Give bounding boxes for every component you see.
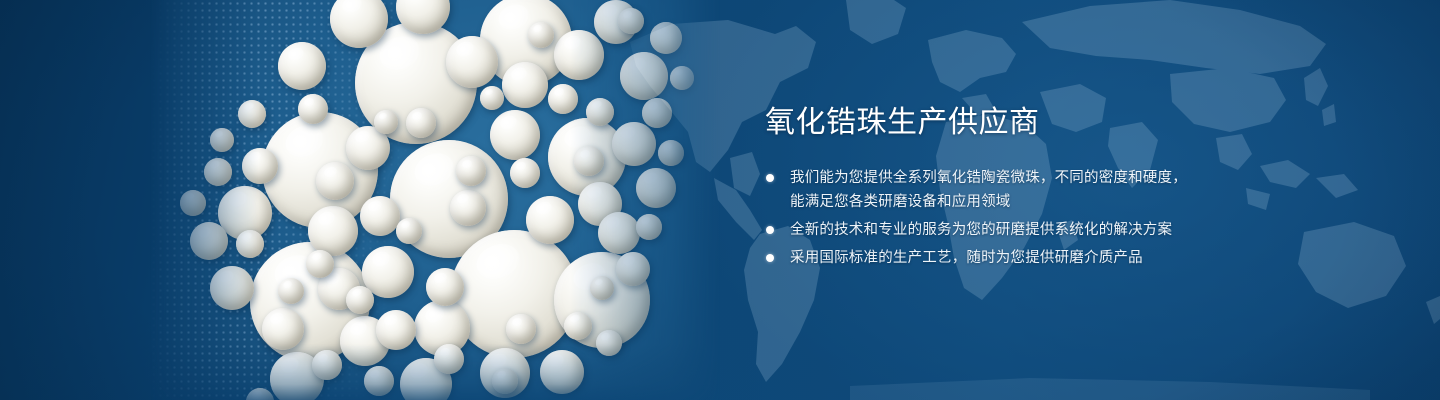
bead [590,276,614,300]
feature-list: 我们能为您提供全系列氧化锆陶瓷微珠，不同的密度和硬度， 能满足您各类研磨设备和应… [763,166,1323,270]
bead [492,368,518,394]
bead [548,84,578,114]
bead [446,36,498,88]
bead [554,30,604,80]
bead [306,250,334,278]
page-title: 氧化锆珠生产供应商 [765,104,1323,142]
bead [278,42,326,90]
bead [502,62,548,108]
bead [526,196,574,244]
list-item-line-1: 我们能为您提供全系列氧化锆陶瓷微珠，不同的密度和硬度， [790,166,1323,190]
bead [574,146,604,176]
list-item: 采用国际标准的生产工艺，随时为您提供研磨介质产品 [763,246,1323,270]
bead [190,222,228,260]
bead [426,268,464,306]
bead [658,140,684,166]
bead [434,344,464,374]
bead [360,196,400,236]
bead [262,308,304,350]
bead [236,230,264,258]
bead [480,86,504,110]
bead [510,158,540,188]
bead [616,252,650,286]
bead [636,168,676,208]
bead [308,206,358,256]
bead [238,100,266,128]
bead [586,98,614,126]
bead [204,158,232,186]
list-item-line-1: 全新的技术和专业的服务为您的研磨提供系统化的解决方案 [790,218,1323,242]
bead [528,22,554,48]
bead [670,66,694,90]
bead [278,278,304,304]
bead [346,286,374,314]
bead [618,8,644,34]
bead [642,98,672,128]
bead [612,122,656,166]
banner-text-panel: 氧化锆珠生产供应商 我们能为您提供全系列氧化锆陶瓷微珠，不同的密度和硬度， 能满… [763,104,1323,274]
bead [636,214,662,240]
bead [298,94,328,124]
bead [598,212,640,254]
bead [620,52,668,100]
bead [180,190,206,216]
bullet-dot-icon [766,174,774,182]
bullet-dot-icon [766,254,774,262]
bead [490,110,540,160]
bead [506,314,536,344]
bead [246,388,274,400]
bead [450,190,486,226]
list-item: 全新的技术和专业的服务为您的研磨提供系统化的解决方案 [763,218,1323,242]
bead [374,110,398,134]
bead [564,312,592,340]
hero-banner: 氧化锆珠生产供应商 我们能为您提供全系列氧化锆陶瓷微珠，不同的密度和硬度， 能满… [0,0,1440,400]
bead [396,218,422,244]
bead [596,330,622,356]
bead [406,108,436,138]
bead [650,22,682,54]
bullet-dot-icon [766,226,774,234]
list-item-line-2: 能满足您各类研磨设备和应用领域 [790,190,1323,214]
bead [242,148,278,184]
list-item-line-1: 采用国际标准的生产工艺，随时为您提供研磨介质产品 [790,246,1323,270]
bead [364,366,394,396]
list-item: 我们能为您提供全系列氧化锆陶瓷微珠，不同的密度和硬度， 能满足您各类研磨设备和应… [763,166,1323,214]
bead [210,266,254,310]
bead [456,156,486,186]
bead [376,310,416,350]
bead [540,350,584,394]
bead [210,128,234,152]
bead [312,350,342,380]
bead [316,162,354,200]
zirconia-beads-photo [150,0,720,400]
